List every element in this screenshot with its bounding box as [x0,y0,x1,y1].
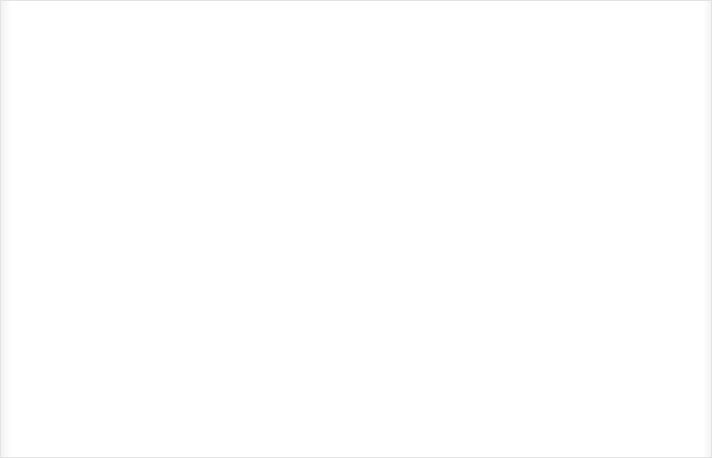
aav-capsid-2 [148,27,186,70]
tlr3-signaling-label: TLR-3 signaling [536,390,664,407]
liver-label: LIVER [94,281,151,300]
immunological-tolerance-label: IMMUNOLOGICAL TOLERANCE [268,199,498,257]
cytokine-dot [498,65,510,77]
cytokine-dot [517,150,529,162]
cytokine-dot [472,143,484,155]
aav-label: AAV [40,28,84,49]
cytokine-dot [507,102,519,114]
cytokine-dot [489,134,501,146]
treg-cell [515,24,609,118]
cytokine-dot [497,167,509,179]
aav-capsid-3 [70,81,108,124]
kupffer-cell-label: Kupffer cell [556,275,650,292]
kupffer-nucleus [530,199,576,251]
prostaglandin-label: Prostaglandin [327,124,440,141]
cytokine-dot [490,100,502,112]
cytokine-dot [488,151,500,163]
receptor-extracellular-domain [505,312,527,364]
tgf-beta-label: TGF-β [424,52,474,69]
aav-capsid-group [70,27,186,124]
tregs-label: Tregs [608,90,653,107]
treg-nucleus [549,43,605,109]
figure-root: AAV LIVER TGF-β IL-10 Prostaglandin Treg… [0,0,712,458]
tolerance-line-1: IMMUNOLOGICAL [268,199,498,228]
aav-capsid-1 [98,31,136,74]
il-10-label: IL-10 [428,88,468,105]
tolerance-line-2: TOLERANCE [268,228,498,257]
cytokine-dot [488,82,500,94]
